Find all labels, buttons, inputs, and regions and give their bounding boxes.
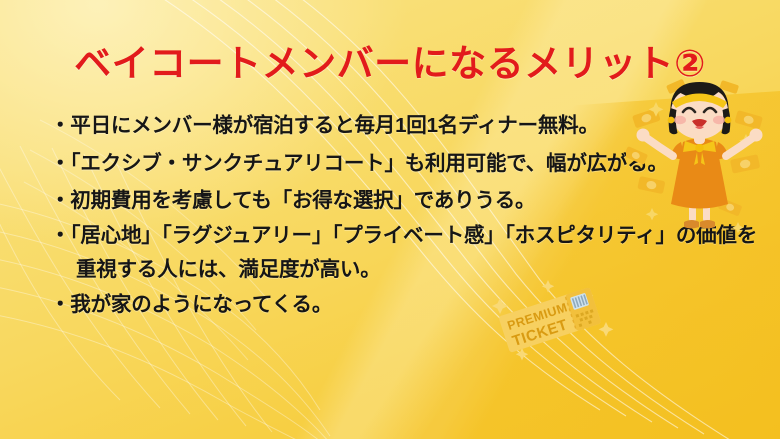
list-item-continuation: 重視する人には、満足度が高い。	[76, 260, 750, 281]
happy-girl-with-money-illustration	[626, 72, 772, 240]
slide-canvas: ベイコートメンバーになるメリット② ・平日にメンバー様が宿泊すると毎月1回1名デ…	[0, 0, 780, 439]
premium-ticket-illustration: PREMIUM TICKET	[488, 276, 618, 362]
list-item: ・我が家のようになってくる。	[50, 295, 750, 316]
